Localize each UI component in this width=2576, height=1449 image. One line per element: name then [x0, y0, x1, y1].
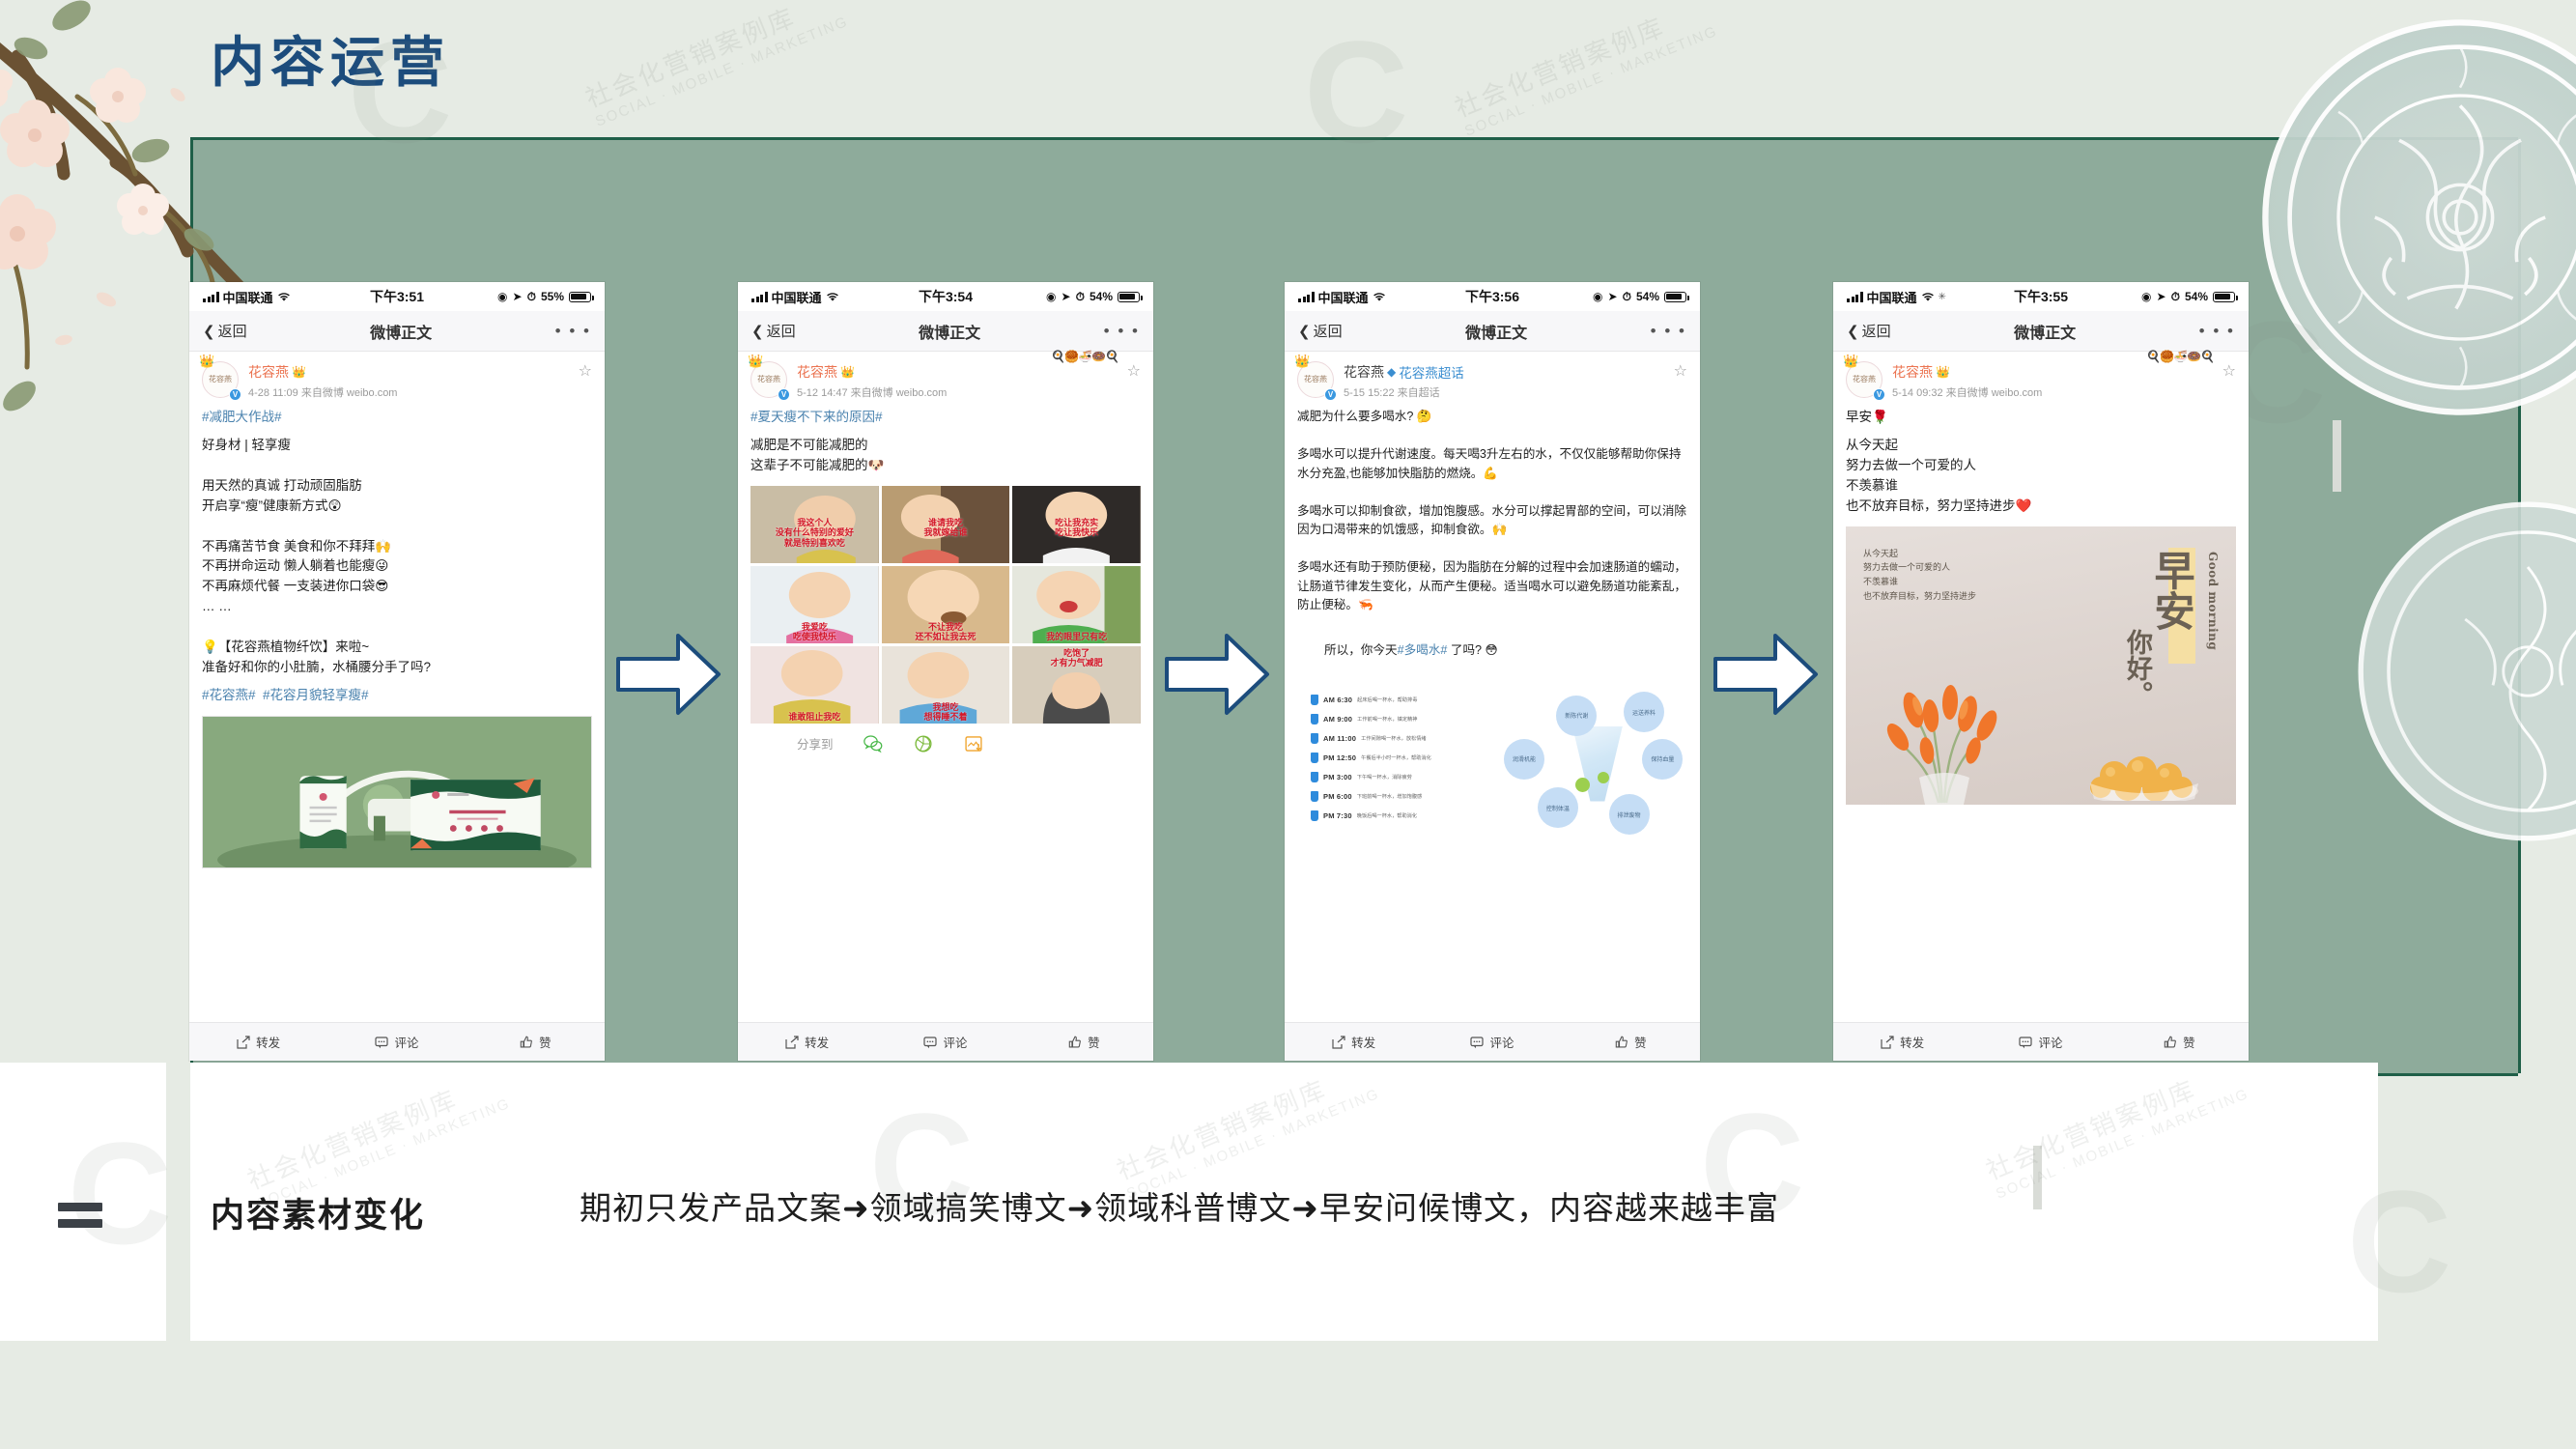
forward-button[interactable]: 转发 — [189, 1033, 327, 1051]
grid-image[interactable]: 谁请我吃 我就嫁给谁 — [882, 486, 1010, 563]
user-name: 花容燕 — [1892, 362, 1933, 382]
battery-icon — [1118, 292, 1140, 302]
schedule-time: PM 6:00 — [1323, 792, 1352, 801]
save-image-icon[interactable] — [963, 733, 984, 754]
benefit-bubble: 保持血量 — [1642, 739, 1683, 780]
post-body: 减肥为什么要多喝水? 🤔 多喝水可以提升代谢速度。每天喝3升左右的水，不仅仅能够… — [1297, 408, 1687, 615]
clock-label: 下午3:54 — [919, 287, 973, 306]
orange-fruit-bowl-illustration — [2081, 731, 2207, 801]
lime-icon — [1598, 772, 1609, 783]
phone-screenshot-1: 中国联通 下午3:51 ◉ ➤ ⏱ 55% ❮ 返回 微博正文 • • • — [189, 282, 605, 1061]
caption-label: 内容素材变化 — [211, 1188, 425, 1237]
schedule-desc: 下午喝一杯水，消除疲劳 — [1357, 774, 1412, 781]
schedule-row: AM 11:00工作间隙喝一杯水，放松情绪 — [1311, 733, 1500, 744]
water-glass-illustration — [1568, 726, 1628, 802]
more-options-button[interactable]: • • • — [1104, 322, 1140, 341]
crown-icon: 👑 — [292, 365, 306, 379]
chevron-left-icon: ❮ — [751, 323, 764, 340]
grid-caption: 我想吃 想得睡不着 — [884, 702, 1008, 722]
avatar[interactable]: 👑 花容燕 V — [1297, 361, 1336, 400]
lock-rotation-icon: ◉ — [2141, 290, 2151, 303]
clock-label: 下午3:51 — [370, 287, 424, 306]
benefit-bubble: 排泄废物 — [1609, 794, 1650, 835]
forward-button[interactable]: 转发 — [1833, 1033, 1971, 1051]
grid-image[interactable]: 不让我吃 还不如让我去死 — [882, 566, 1010, 643]
avatar[interactable]: 👑 花容燕 V — [202, 361, 241, 400]
forward-label: 转发 — [256, 1033, 280, 1051]
nav-title: 微博正文 — [2014, 320, 2076, 343]
forward-icon — [1881, 1036, 1894, 1049]
post-hashtags-bottom[interactable]: #花容燕# #花容月貌轻享瘦# — [202, 686, 592, 706]
back-button[interactable]: ❮ 返回 — [751, 321, 796, 341]
post-body: 从今天起 努力去做一个可爱的人 不羡慕谁 也不放弃目标，努力坚持进步❤️ — [1846, 436, 2236, 517]
post-meta: 5-12 14:47 来自微博 weibo.com — [797, 384, 1119, 400]
battery-percent: 54% — [1090, 290, 1113, 303]
more-options-button[interactable]: • • • — [555, 322, 591, 341]
more-options-button[interactable]: • • • — [1651, 322, 1686, 341]
slide-canvas: 内容运营 C C C C C C C 社会化营销案例库SOCIAL · MOBI… — [0, 0, 2576, 1449]
schedule-desc: 工作前喝一杯水，镇定精神 — [1357, 716, 1417, 723]
lock-rotation-icon: ◉ — [1046, 290, 1056, 303]
alarm-icon: ⏱ — [1623, 290, 1631, 304]
grid-caption: 我爱吃 吃使我快乐 — [752, 622, 877, 641]
battery-percent: 54% — [2185, 290, 2208, 303]
schedule-row: AM 9:00工作前喝一杯水，镇定精神 — [1311, 714, 1500, 724]
flow-arrow-3-icon — [1712, 628, 1820, 721]
crown-icon: 👑 — [1843, 354, 1858, 369]
comment-button[interactable]: 评论 — [1423, 1033, 1561, 1051]
grid-caption: 谁敢阻止我吃 — [752, 712, 877, 722]
crown-icon: 👑 — [1294, 354, 1310, 369]
caption-body: 期初只发产品文案➜领域搞笑博文➜领域科普博文➜早安问候博文，内容越来越丰富 — [580, 1186, 2028, 1232]
comment-button[interactable]: 评论 — [876, 1033, 1014, 1051]
grid-image[interactable]: 我的眼里只有吃 — [1012, 566, 1141, 643]
nav-title: 微博正文 — [370, 320, 432, 343]
crown-icon: 👑 — [840, 365, 855, 379]
post-meta: 5-15 15:22 来自超话 — [1344, 384, 1666, 400]
favorite-star-icon[interactable]: ☆ — [579, 361, 592, 381]
clock-label: 下午3:56 — [1465, 287, 1519, 306]
favorite-star-icon[interactable]: ☆ — [2222, 361, 2236, 381]
like-button[interactable]: 赞 — [1562, 1033, 1700, 1051]
grid-caption: 谁请我吃 我就嫁给谁 — [884, 518, 1008, 537]
forward-label: 转发 — [1900, 1033, 1924, 1051]
user-name: 花容燕 — [1344, 362, 1384, 382]
grid-caption: 我的眼里只有吃 — [1014, 632, 1139, 641]
crown-icon: 👑 — [199, 354, 214, 369]
wechat-icon[interactable] — [863, 733, 884, 754]
back-label: 返回 — [1314, 321, 1343, 341]
caption-tick — [2033, 1146, 2042, 1209]
user-name-row[interactable]: 花容燕 ◆ 花容燕超话 — [1344, 362, 1666, 382]
crown-icon: 👑 — [748, 354, 763, 369]
grid-caption: 我这个人 没有什么特别的爱好 就是特别喜欢吃 — [752, 518, 877, 547]
clock-label: 下午3:55 — [2014, 287, 2068, 306]
image-grid: 我这个人 没有什么特别的爱好 就是特别喜欢吃 谁请我吃 我就嫁给谁 吃让我充实 … — [750, 486, 1141, 724]
post-toolbar: 转发 评论 赞 — [1285, 1022, 1700, 1061]
wifi-icon — [1373, 292, 1386, 302]
back-button[interactable]: ❮ 返回 — [1298, 321, 1343, 341]
alarm-icon: ⏱ — [527, 290, 536, 304]
wifi-icon — [1921, 292, 1935, 302]
signal-bars-icon — [1847, 292, 1863, 302]
forward-label: 转发 — [805, 1033, 829, 1051]
thumbs-up-icon — [1615, 1036, 1628, 1049]
thumbs-up-icon — [520, 1036, 533, 1049]
benefit-bubble: 运送养料 — [1624, 692, 1664, 732]
forward-icon — [237, 1036, 250, 1049]
nav-bar: ❮ 返回 微博正文 • • • — [738, 311, 1153, 352]
schedule-time: AM 6:30 — [1323, 696, 1352, 704]
more-options-button[interactable]: • • • — [2199, 322, 2235, 341]
water-cup-icon — [1311, 753, 1318, 763]
verified-badge-icon: V — [778, 388, 790, 401]
comment-label: 评论 — [1489, 1033, 1514, 1051]
water-cup-icon — [1311, 733, 1318, 744]
benefit-bubble: 新陈代谢 — [1556, 696, 1597, 736]
chevron-left-icon: ❮ — [203, 323, 215, 340]
like-button[interactable]: 赞 — [1015, 1033, 1153, 1051]
weibo-post: 🍳🥮🍜🍩🍳 👑 花容燕 V 花容燕 👑 5-12 14:47 来自微博 weib… — [738, 352, 1153, 754]
post-image-product[interactable] — [202, 716, 592, 868]
forward-button[interactable]: 转发 — [738, 1033, 876, 1051]
schedule-time: AM 11:00 — [1323, 734, 1356, 743]
battery-percent: 54% — [1636, 290, 1659, 303]
grid-image[interactable]: 我想吃 想得睡不着 — [882, 646, 1010, 724]
orange-flowers-illustration — [1873, 650, 2037, 805]
avatar[interactable]: 👑 花容燕 V — [1846, 361, 1884, 400]
post-toolbar: 转发 评论 赞 — [1833, 1022, 2249, 1061]
battery-icon — [2213, 292, 2235, 302]
post-meta: 5-14 09:32 来自微博 weibo.com — [1892, 384, 2215, 400]
comment-label: 评论 — [394, 1033, 418, 1051]
location-icon: ➤ — [2157, 290, 2166, 303]
water-cup-icon — [1311, 791, 1318, 802]
comment-icon — [1470, 1036, 1484, 1049]
grid-caption: 不让我吃 还不如让我去死 — [884, 622, 1008, 641]
forward-icon — [1332, 1036, 1345, 1049]
poster-english-label: Good morning — [2206, 552, 2220, 650]
thumbs-up-icon — [1068, 1036, 1082, 1049]
favorite-star-icon[interactable]: ☆ — [1127, 361, 1141, 381]
nav-title: 微博正文 — [1465, 320, 1527, 343]
battery-icon — [569, 292, 591, 302]
closing-prefix: 所以，你今天 — [1324, 643, 1398, 657]
watermark-text: 社会化营销案例库SOCIAL · MOBILE · MARKETING — [580, 0, 851, 130]
grid-image[interactable]: 吃饱了 才有力气减肥 — [1012, 646, 1141, 724]
carrier-label: 中国联通 — [1318, 288, 1369, 306]
poster-quote: 从今天起 努力去做一个可爱的人 不羡慕谁 也不放弃目标，努力坚持进步 — [1863, 548, 1976, 605]
user-name: 花容燕 — [797, 362, 837, 382]
status-bar: 中国联通 下午3:51 ◉ ➤ ⏱ 55% — [189, 282, 605, 311]
back-button[interactable]: ❮ 返回 — [1847, 321, 1891, 341]
water-cup-icon — [1311, 695, 1318, 705]
post-toolbar: 转发 评论 赞 — [189, 1022, 605, 1061]
lime-icon — [1575, 778, 1590, 792]
battery-percent: 55% — [541, 290, 564, 303]
chevron-left-icon: ❮ — [1298, 323, 1311, 340]
forward-button[interactable]: 转发 — [1285, 1033, 1423, 1051]
like-label: 赞 — [539, 1033, 552, 1051]
signal-bars-icon — [1298, 292, 1315, 302]
closing-hashtag[interactable]: #多喝水# — [1398, 643, 1448, 657]
location-icon: ➤ — [1062, 290, 1071, 303]
lock-rotation-icon: ◉ — [497, 290, 507, 303]
alarm-icon: ⏱ — [1076, 290, 1085, 304]
schedule-desc: 起床后喝一杯水，帮助排毒 — [1357, 696, 1417, 703]
back-button[interactable]: ❮ 返回 — [203, 321, 247, 341]
grid-image[interactable]: 我这个人 没有什么特别的爱好 就是特别喜欢吃 — [750, 486, 879, 563]
poster-headline: 早安 — [2150, 550, 2192, 631]
like-label: 赞 — [1634, 1033, 1647, 1051]
weibo-post: 🍳🥮🍜🍩🍳 👑 花容燕 V 花容燕 👑 5-14 09:32 来自微博 weib… — [1833, 352, 2249, 805]
comment-icon — [2019, 1036, 2032, 1049]
wifi-icon — [277, 292, 291, 302]
comment-button[interactable]: 评论 — [1971, 1033, 2109, 1051]
post-body: 减肥是不可能减肥的 这辈子不可能减肥的🐶 — [750, 436, 1141, 476]
benefit-bubble: 润滑机能 — [1504, 739, 1544, 780]
share-label: 分享到 — [797, 734, 834, 753]
phone-screenshot-3: 中国联通 下午3:56 ◉ ➤ ⏱ 54% ❮ 返回 微博正文 • • • — [1285, 282, 1700, 1061]
location-icon: ➤ — [513, 290, 523, 303]
battery-icon — [1664, 292, 1686, 302]
band-tick-2 — [2333, 420, 2341, 492]
post-toolbar: 转发 评论 赞 — [738, 1022, 1153, 1061]
grid-image[interactable]: 我爱吃 吃使我快乐 — [750, 566, 879, 643]
schedule-desc: 下班前喝一杯水，增加饱腹感 — [1357, 793, 1422, 800]
poster-subline: 你好。 — [2120, 629, 2153, 707]
thumbs-up-icon — [2164, 1036, 2177, 1049]
water-cup-icon — [1311, 772, 1318, 782]
comment-icon — [923, 1036, 937, 1049]
schedule-desc: 午餐后半小时一杯水，帮助消化 — [1361, 754, 1431, 761]
flow-arrow-2-icon — [1163, 628, 1271, 721]
closing-suffix: 了吗? 😳 — [1447, 643, 1497, 657]
carrier-label: 中国联通 — [1867, 288, 1917, 306]
status-bar: 中国联通 ✳ 下午3:55 ◉ ➤ ⏱ 54% — [1833, 282, 2249, 311]
forward-icon — [785, 1036, 799, 1049]
user-name-row[interactable]: 花容燕 👑 — [797, 362, 1119, 382]
lock-rotation-icon: ◉ — [1593, 290, 1602, 303]
comment-label: 评论 — [943, 1033, 967, 1051]
carrier-label: 中国联通 — [223, 288, 273, 306]
post-image-good-morning[interactable]: 从今天起 努力去做一个可爱的人 不羡慕谁 也不放弃目标，努力坚持进步 早安 Go… — [1846, 526, 2236, 805]
crown-icon: 👑 — [1936, 365, 1950, 379]
verified-badge-icon: V — [229, 388, 241, 401]
grid-image[interactable]: 谁敢阻止我吃 — [750, 646, 879, 724]
schedule-time: PM 12:50 — [1323, 753, 1356, 762]
post-meta: 4-28 11:09 来自微博 weibo.com — [248, 384, 571, 400]
schedule-row: PM 7:30晚饭后喝一杯水，帮助消化 — [1311, 810, 1500, 821]
grid-image[interactable]: 吃让我充实 吃让我快乐 — [1012, 486, 1141, 563]
user-name-row[interactable]: 花容燕 👑 — [1892, 362, 2215, 382]
phone-screenshot-2: 中国联通 下午3:54 ◉ ➤ ⏱ 54% ❮ 返回 微博正文 • • • 🍳🥮… — [738, 282, 1153, 1061]
avatar[interactable]: 👑 花容燕 V — [750, 361, 789, 400]
page-title: 内容运营 — [211, 19, 450, 98]
schedule-desc: 工作间隙喝一杯水，放松情绪 — [1361, 735, 1426, 742]
like-label: 赞 — [2183, 1033, 2195, 1051]
equals-marker-icon — [58, 1203, 102, 1228]
user-name-row[interactable]: 花容燕 👑 — [248, 362, 571, 382]
location-icon: ➤ — [1608, 290, 1618, 303]
benefit-bubble: 控制体温 — [1538, 787, 1578, 828]
chevron-left-icon: ❮ — [1847, 323, 1859, 340]
wechat-moments-icon[interactable] — [913, 733, 934, 754]
comment-icon — [375, 1036, 388, 1049]
comment-button[interactable]: 评论 — [327, 1033, 466, 1051]
back-label: 返回 — [1862, 321, 1891, 341]
water-cup-icon — [1311, 714, 1318, 724]
nav-bar: ❮ 返回 微博正文 • • • — [1285, 311, 1700, 352]
schedule-time: PM 3:00 — [1323, 773, 1352, 781]
schedule-desc: 晚饭后喝一杯水，帮助消化 — [1357, 812, 1417, 819]
watermark-text: 社会化营销案例库SOCIAL · MOBILE · MARKETING — [1449, 0, 1720, 140]
alarm-icon: ⏱ — [2171, 290, 2180, 304]
grid-caption: 吃让我充实 吃让我快乐 — [1014, 518, 1139, 537]
poster-dot: 。 — [2122, 681, 2152, 707]
like-button[interactable]: 赞 — [467, 1033, 605, 1051]
weibo-post: 👑 花容燕 V 花容燕 👑 4-28 11:09 来自微博 weibo.com … — [189, 352, 605, 868]
schedule-time: PM 7:30 — [1323, 811, 1352, 820]
grid-caption: 吃饱了 才有力气减肥 — [1014, 648, 1139, 668]
signal-bars-icon — [751, 292, 768, 302]
carrier-label: 中国联通 — [772, 288, 822, 306]
status-bar: 中国联通 下午3:56 ◉ ➤ ⏱ 54% — [1285, 282, 1700, 311]
post-hashtag-top[interactable]: #夏天瘦不下来的原因# — [750, 408, 1141, 428]
flow-arrow-1-icon — [614, 628, 722, 721]
post-closing-line: 所以，你今天#多喝水# 了吗? 😳 — [1297, 623, 1687, 680]
back-label: 返回 — [767, 321, 796, 341]
post-image-water-infographic[interactable]: AM 6:30起床后喝一杯水，帮助排毒 AM 9:00工作前喝一杯水，镇定精神 … — [1297, 687, 1687, 849]
verified-badge-icon: V — [1873, 388, 1885, 401]
back-label: 返回 — [218, 321, 247, 341]
caption-left-panel — [0, 1063, 166, 1341]
supertopic-link[interactable]: 花容燕超话 — [1399, 362, 1464, 382]
favorite-star-icon[interactable]: ☆ — [1674, 361, 1687, 381]
water-cup-icon — [1311, 810, 1318, 821]
water-schedule-list: AM 6:30起床后喝一杯水，帮助排毒 AM 9:00工作前喝一杯水，镇定精神 … — [1297, 687, 1500, 849]
nav-bar: ❮ 返回 微博正文 • • • — [1833, 311, 2249, 352]
schedule-row: PM 12:50午餐后半小时一杯水，帮助消化 — [1311, 753, 1500, 763]
schedule-row: PM 3:00下午喝一杯水，消除疲劳 — [1311, 772, 1500, 782]
diamond-icon: ◆ — [1387, 365, 1396, 379]
post-hashtag-top[interactable]: #减肥大作战# — [202, 408, 592, 428]
post-greeting: 早安🌹 — [1846, 408, 2236, 428]
schedule-time: AM 9:00 — [1323, 715, 1352, 724]
phone-screenshot-4: 中国联通 ✳ 下午3:55 ◉ ➤ ⏱ 54% ❮ 返回 微博正文 • • • … — [1833, 282, 2249, 1061]
post-body: 好身材 | 轻享瘦 用天然的真诚 打动顽固脂肪 开启享“瘦”健康新方式😲 不再痛… — [202, 436, 592, 678]
comment-label: 评论 — [2038, 1033, 2062, 1051]
weibo-post: 👑 花容燕 V 花容燕 ◆ 花容燕超话 5-15 15:22 来自超话 ☆ 减肥… — [1285, 352, 1700, 849]
nav-title: 微博正文 — [919, 320, 980, 343]
wifi-icon — [826, 292, 839, 302]
nav-bar: ❮ 返回 微博正文 • • • — [189, 311, 605, 352]
signal-bars-icon — [203, 292, 219, 302]
like-button[interactable]: 赞 — [2110, 1033, 2249, 1051]
bluetooth-icon: ✳ — [1939, 292, 1946, 302]
share-row: 分享到 — [750, 733, 1141, 754]
forward-label: 转发 — [1351, 1033, 1375, 1051]
verified-badge-icon: V — [1324, 388, 1337, 401]
user-name: 花容燕 — [248, 362, 289, 382]
water-benefit-bubbles: 新陈代谢 运送养料 润滑机能 保持血量 控制体温 排泄废物 — [1500, 687, 1687, 849]
status-bar: 中国联通 下午3:54 ◉ ➤ ⏱ 54% — [738, 282, 1153, 311]
schedule-row: AM 6:30起床后喝一杯水，帮助排毒 — [1311, 695, 1500, 705]
like-label: 赞 — [1088, 1033, 1100, 1051]
schedule-row: PM 6:00下班前喝一杯水，增加饱腹感 — [1311, 791, 1500, 802]
